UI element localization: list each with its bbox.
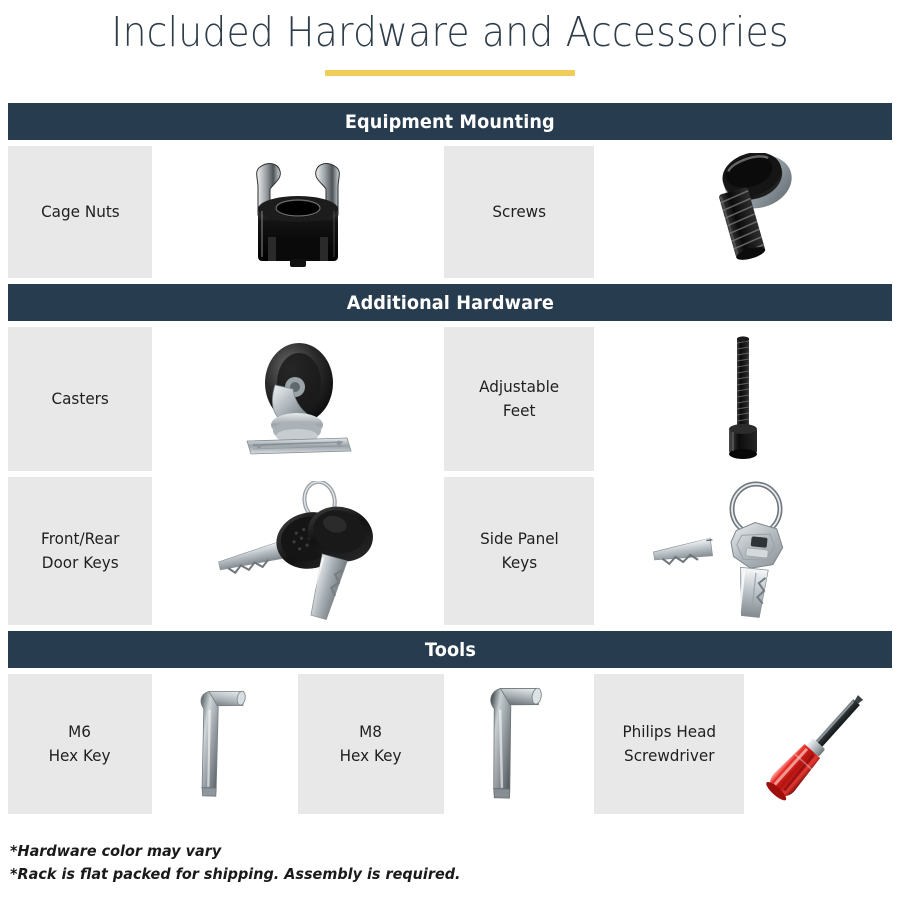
item-label-cell-side-panel-keys: Side Panel Keys [444,477,594,625]
item-image-cell-casters [152,327,444,471]
item-label: Philips Head Screwdriver [622,720,716,768]
item-label-cell-philips-head-screwdriver: Philips Head Screwdriver [594,674,744,814]
table-row: M6 Hex Key [8,674,892,814]
section-heading-label: Tools [424,639,475,661]
table-row: Casters [8,327,892,471]
screwdriver-image [744,674,892,814]
adjustable-foot-image [594,327,892,471]
item-image-cell-philips-head-screwdriver [744,674,892,814]
section-heading-tools: Tools [8,631,892,668]
item-label-cell-cage-nuts: Cage Nuts [8,146,152,278]
hardware-table: Equipment Mounting Cage Nuts [8,103,892,814]
item-image-cell-side-panel-keys [594,477,892,625]
item-label: Screws [492,200,546,224]
item-image-cell-cage-nuts [152,146,444,278]
item-label: Casters [51,387,108,411]
item-label-cell-adjustable-feet: Adjustable Feet [444,327,594,471]
hex-key-m8-image [444,674,594,814]
item-label: Adjustable Feet [479,375,559,423]
item-image-cell-front-rear-door-keys [152,477,444,625]
footnote-flat-packed: *Rack is flat packed for shipping. Assem… [10,863,682,886]
footnote-hardware-color: *Hardware color may vary [10,840,682,863]
item-label-cell-m8-hex-key: M8 Hex Key [298,674,444,814]
item-label: Front/Rear Door Keys [41,527,119,575]
item-label-cell-front-rear-door-keys: Front/Rear Door Keys [8,477,152,625]
section-heading-equipment-mounting: Equipment Mounting [8,103,892,140]
item-image-cell-m8-hex-key [444,674,594,814]
title-underline-rule [325,70,575,76]
item-label: Side Panel Keys [480,527,559,575]
caster-wheel-image [152,327,444,471]
section-heading-label: Equipment Mounting [345,111,555,133]
item-label: M6 Hex Key [49,720,111,768]
item-label-cell-screws: Screws [444,146,594,278]
table-row: Front/Rear Door Keys [8,477,892,625]
item-label: Cage Nuts [41,200,120,224]
item-image-cell-m6-hex-key [152,674,298,814]
silver-keys-image [594,477,892,625]
section-heading-additional-hardware: Additional Hardware [8,284,892,321]
page-header: Included Hardware and Accessories [0,0,900,76]
screw-image [594,146,892,278]
item-label-cell-casters: Casters [8,327,152,471]
section-heading-label: Additional Hardware [346,292,553,314]
item-image-cell-adjustable-feet [594,327,892,471]
cage-nut-image [152,146,444,278]
page-title: Included Hardware and Accessories [36,8,864,56]
item-label: M8 Hex Key [340,720,402,768]
hex-key-m6-image [152,674,298,814]
footnotes: *Hardware color may vary *Rack is flat p… [10,840,710,886]
black-head-keys-image [152,477,444,625]
item-image-cell-screws [594,146,892,278]
table-row: Cage Nuts [8,146,892,278]
item-label-cell-m6-hex-key: M6 Hex Key [8,674,152,814]
